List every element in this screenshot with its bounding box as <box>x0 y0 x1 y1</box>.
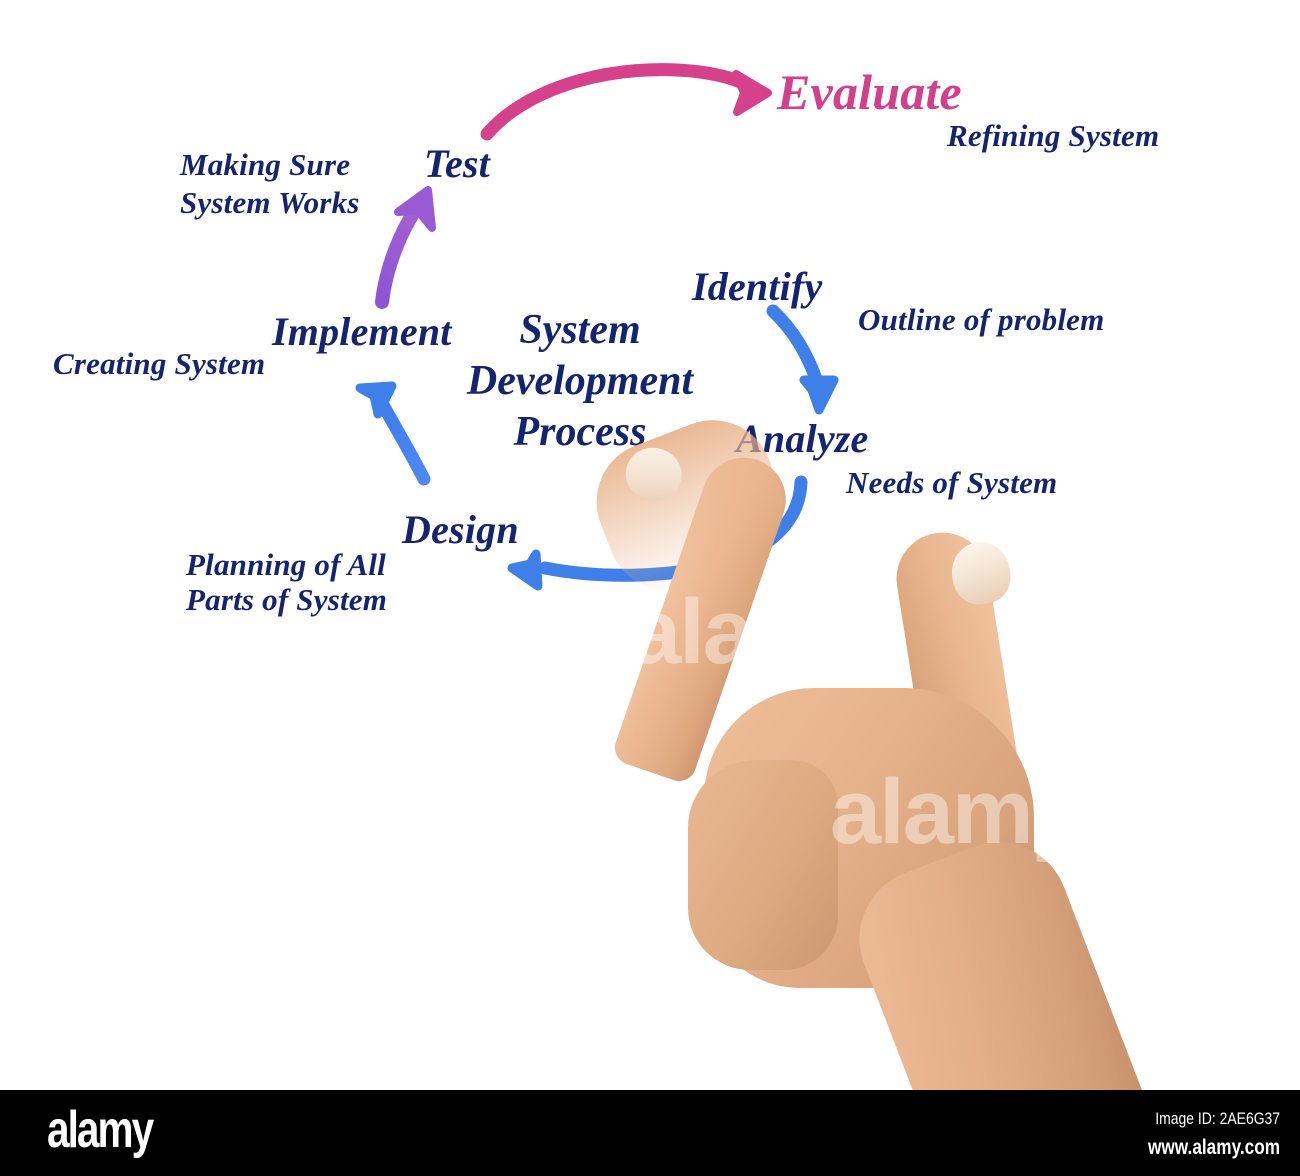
stage-label-evaluate[interactable]: Evaluate <box>777 64 962 120</box>
stage-description-test: Making Sure <box>180 148 350 183</box>
stage-description-identify: Outline of problem <box>858 303 1104 338</box>
stage-label-identify[interactable]: Identify <box>692 265 822 310</box>
alamy-logo[interactable]: alamy <box>47 1104 152 1156</box>
stage-description-analyze: Needs of System <box>846 466 1057 501</box>
image-id-text: Image ID: 2AE6G37 <box>1148 1106 1280 1132</box>
knuckles <box>688 760 838 970</box>
alamy-url[interactable]: www.alamy.com <box>1148 1132 1280 1165</box>
hand-pointing-photo <box>600 430 1240 1100</box>
stage-description-evaluate: Refining System <box>947 119 1159 154</box>
stage-label-test[interactable]: Test <box>424 142 490 187</box>
arrow-design-to-implement <box>360 386 424 479</box>
arrow-test-to-evaluate <box>487 70 768 134</box>
stage-description-test-line2: System Works <box>180 186 360 221</box>
alamy-footer-bar: alamy Image ID: 2AE6G37 www.alamy.com <box>0 1090 1300 1176</box>
stage-label-design[interactable]: Design <box>402 508 519 553</box>
arrow-identify-to-analyze <box>773 311 834 410</box>
index-finger <box>610 446 797 785</box>
footer-meta: Image ID: 2AE6G37 www.alamy.com <box>1119 1106 1280 1165</box>
palm <box>704 688 1034 988</box>
stage-label-implement[interactable]: Implement <box>272 310 452 355</box>
stage-description-implement: Creating System <box>53 347 265 382</box>
arrow-analyze-to-design <box>512 482 801 586</box>
stage-description-design: Planning of All <box>186 548 386 583</box>
stage-description-design-line2: Parts of System <box>186 583 387 618</box>
arrow-implement-to-test <box>382 190 432 302</box>
diagram-canvas: Evaluate Refining System Test Making Sur… <box>0 0 1300 1176</box>
watermark-alamy-low: alamy <box>830 760 1081 865</box>
thumbnail <box>948 538 1015 608</box>
page-title: System Development Process <box>440 305 720 459</box>
thumb <box>890 526 1022 797</box>
watermark-alamy-mid: alamy <box>630 580 881 685</box>
stage-label-analyze[interactable]: Analyze <box>736 417 869 462</box>
